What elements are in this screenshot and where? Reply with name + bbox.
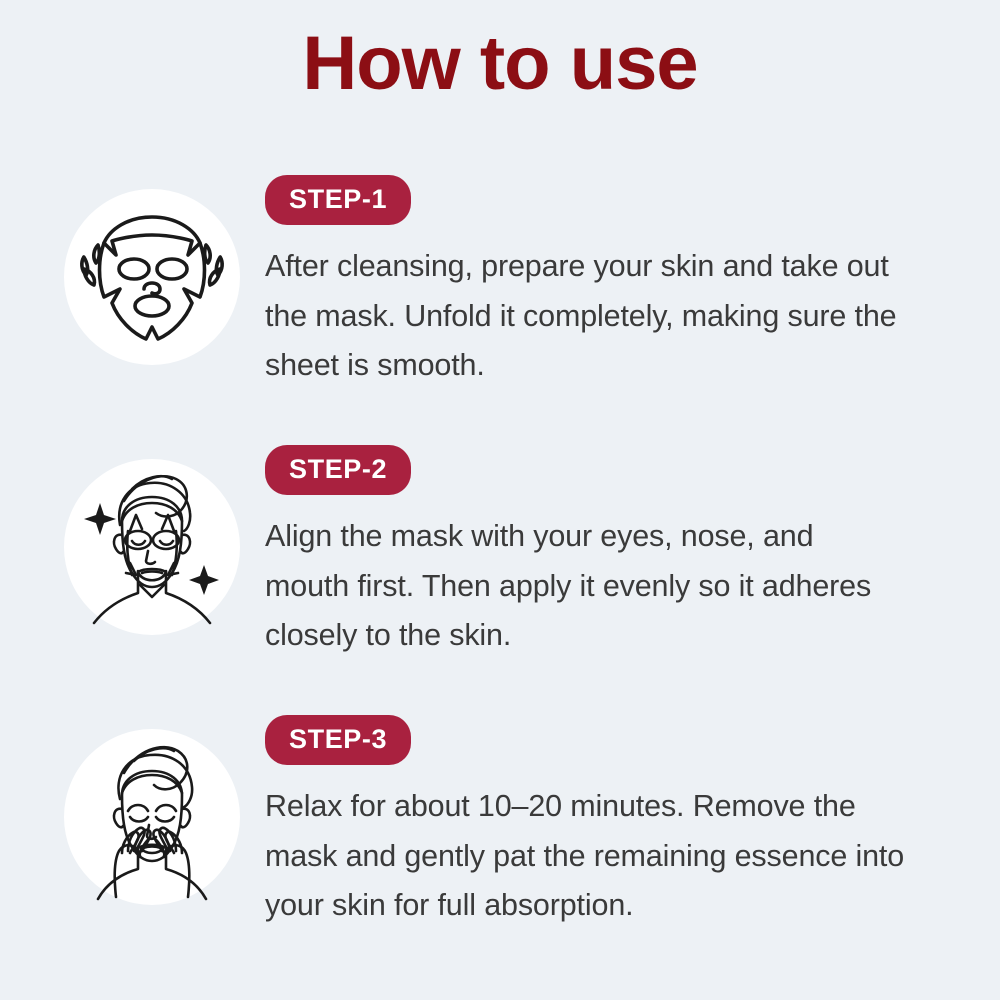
step-2-icon-circle xyxy=(64,459,240,635)
how-to-use-infographic: How to use xyxy=(0,0,1000,1000)
steps-list: STEP-1 After cleansing, prepare your ski… xyxy=(0,175,1000,985)
step-1-body: STEP-1 After cleansing, prepare your ski… xyxy=(265,175,905,391)
step-2-text: Align the mask with your eyes, nose, and… xyxy=(265,512,905,661)
step-2-badge: STEP-2 xyxy=(265,445,411,495)
step-3-text: Relax for about 10–20 minutes. Remove th… xyxy=(265,782,905,931)
woman-wearing-sheet-mask-icon xyxy=(64,459,240,635)
page-title: How to use xyxy=(0,22,1000,106)
step-1-icon-circle xyxy=(64,189,240,365)
step-2-body: STEP-2 Align the mask with your eyes, no… xyxy=(265,445,905,661)
step-1-badge: STEP-1 xyxy=(265,175,411,225)
step-3-badge: STEP-3 xyxy=(265,715,411,765)
list-item: STEP-3 Relax for about 10–20 minutes. Re… xyxy=(0,715,1000,985)
step-1-text: After cleansing, prepare your skin and t… xyxy=(265,242,905,391)
step-3-body: STEP-3 Relax for about 10–20 minutes. Re… xyxy=(265,715,905,931)
list-item: STEP-2 Align the mask with your eyes, no… xyxy=(0,445,1000,715)
woman-patting-face-icon xyxy=(64,729,240,905)
sheet-mask-icon xyxy=(64,189,240,365)
list-item: STEP-1 After cleansing, prepare your ski… xyxy=(0,175,1000,445)
step-3-icon-circle xyxy=(64,729,240,905)
